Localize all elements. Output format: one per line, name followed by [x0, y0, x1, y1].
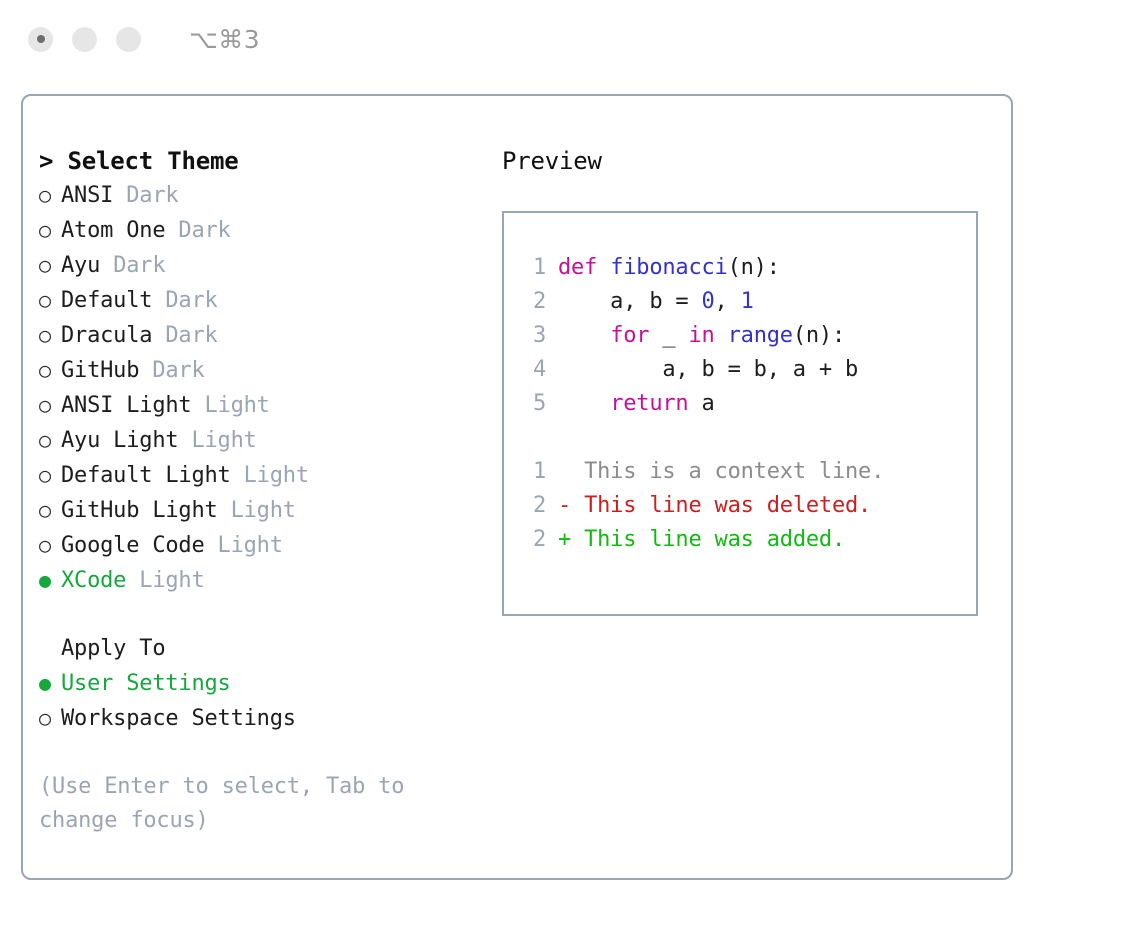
theme-name: ANSI — [61, 179, 113, 213]
line-number: 4 — [524, 353, 558, 387]
theme-name: XCode — [61, 564, 126, 598]
code-token-kw: for — [610, 323, 649, 348]
code-token-kw: in — [688, 323, 714, 348]
code-token-plain: a, b = b, a + b — [558, 357, 858, 382]
code-text: a, b = b, a + b — [558, 353, 858, 387]
line-number: 2 — [524, 285, 558, 319]
theme-name: Default Light — [61, 459, 231, 493]
theme-option-default-light[interactable]: ○Default Light Light — [39, 458, 469, 493]
code-text: a, b = 0, 1 — [558, 285, 754, 319]
keyboard-hint-text: (Use Enter to select, Tab to change focu… — [39, 770, 439, 838]
code-token-plain: _ — [649, 323, 688, 348]
window-close-dot[interactable] — [28, 27, 53, 52]
radio-unselected-icon: ○ — [39, 318, 61, 352]
select-theme-header: > Select Theme — [39, 144, 469, 178]
theme-name: Atom One — [61, 214, 165, 248]
diff-content: This line was added. — [584, 527, 845, 552]
code-line: 5 return a — [524, 387, 976, 421]
traffic-light-dots — [28, 27, 141, 52]
theme-option-dracula[interactable]: ○Dracula Dark — [39, 318, 469, 353]
theme-variant: Dark — [165, 319, 217, 353]
radio-selected-icon: ● — [39, 666, 61, 700]
code-token-fn: range — [728, 323, 793, 348]
active-indicator-dot — [37, 35, 45, 43]
theme-option-ayu-light[interactable]: ○Ayu Light Light — [39, 423, 469, 458]
theme-name: ANSI Light — [61, 389, 191, 423]
theme-option-ansi[interactable]: ○ANSI Dark — [39, 178, 469, 213]
theme-name: GitHub Light — [61, 494, 218, 528]
diff-marker — [558, 459, 584, 484]
theme-variant: Light — [244, 459, 309, 493]
code-line: 1def fibonacci(n): — [524, 251, 976, 285]
apply-option-user-settings[interactable]: ●User Settings — [39, 666, 469, 701]
code-text: def fibonacci(n): — [558, 251, 780, 285]
radio-unselected-icon: ○ — [39, 178, 61, 212]
code-token-plain: a, b = — [558, 289, 702, 314]
preview-title: Preview — [502, 144, 982, 178]
theme-variant: Dark — [152, 354, 204, 388]
theme-option-atom-one[interactable]: ○Atom One Dark — [39, 213, 469, 248]
code-token-kw: def — [558, 255, 610, 280]
code-token-plain — [558, 323, 610, 348]
theme-variant: Dark — [113, 249, 165, 283]
code-line: 2 a, b = 0, 1 — [524, 285, 976, 319]
theme-name: Ayu Light — [61, 424, 178, 458]
window-titlebar: ⌥⌘3 — [0, 0, 1140, 78]
theme-variant: Light — [191, 424, 256, 458]
keyboard-shortcut-label: ⌥⌘3 — [189, 25, 260, 54]
radio-unselected-icon: ○ — [39, 458, 61, 492]
radio-unselected-icon: ○ — [39, 353, 61, 387]
apply-option-label: User Settings — [61, 667, 231, 701]
code-sample: 1def fibonacci(n):2 a, b = 0, 13 for _ i… — [524, 251, 976, 421]
diff-line-add: 2+ This line was added. — [524, 523, 976, 557]
code-token-plain: a — [688, 391, 714, 416]
code-line: 4 a, b = b, a + b — [524, 353, 976, 387]
section-spacer — [39, 598, 469, 632]
radio-unselected-icon: ○ — [39, 388, 61, 422]
window-maximize-dot[interactable] — [116, 27, 141, 52]
theme-option-ansi-light[interactable]: ○ANSI Light Light — [39, 388, 469, 423]
code-token-plain: (n): — [793, 323, 845, 348]
line-number: 1 — [524, 251, 558, 285]
theme-name: Default — [61, 284, 152, 318]
theme-variant: Light — [218, 529, 283, 563]
radio-selected-icon: ● — [39, 563, 61, 597]
apply-option-label: Workspace Settings — [61, 702, 296, 736]
radio-unselected-icon: ○ — [39, 493, 61, 527]
code-text: for _ in range(n): — [558, 319, 845, 353]
diff-marker: - — [558, 493, 584, 518]
radio-unselected-icon: ○ — [39, 283, 61, 317]
theme-name: GitHub — [61, 354, 139, 388]
apply-option-workspace-settings[interactable]: ○Workspace Settings — [39, 701, 469, 736]
line-number: 3 — [524, 319, 558, 353]
radio-unselected-icon: ○ — [39, 701, 61, 735]
theme-option-github[interactable]: ○GitHub Dark — [39, 353, 469, 388]
code-token-plain: (n): — [728, 255, 780, 280]
theme-option-github-light[interactable]: ○GitHub Light Light — [39, 493, 469, 528]
apply-to-header: Apply To — [39, 632, 469, 666]
code-text: return a — [558, 387, 715, 421]
diff-content: This line was deleted. — [584, 493, 871, 518]
code-token-fn: fibonacci — [610, 255, 727, 280]
diff-text: + This line was added. — [558, 523, 845, 557]
apply-to-list: ●User Settings○Workspace Settings — [39, 666, 469, 736]
theme-option-default[interactable]: ○Default Dark — [39, 283, 469, 318]
radio-unselected-icon: ○ — [39, 423, 61, 457]
theme-option-google-code[interactable]: ○Google Code Light — [39, 528, 469, 563]
diff-line-ctx: 1 This is a context line. — [524, 455, 976, 489]
diff-line-del: 2- This line was deleted. — [524, 489, 976, 523]
radio-unselected-icon: ○ — [39, 528, 61, 562]
code-token-num: 0 — [702, 289, 715, 314]
theme-variant: Dark — [165, 284, 217, 318]
diff-text: This is a context line. — [558, 455, 884, 489]
line-number: 2 — [524, 523, 558, 557]
theme-variant: Dark — [178, 214, 230, 248]
line-number: 5 — [524, 387, 558, 421]
app-window: > Select Theme ○ANSI Dark○Atom One Dark○… — [21, 94, 1013, 880]
theme-name: Ayu — [61, 249, 100, 283]
line-number: 2 — [524, 489, 558, 523]
theme-variant: Light — [205, 389, 270, 423]
preview-box: 1def fibonacci(n):2 a, b = 0, 13 for _ i… — [502, 211, 978, 616]
theme-selector-panel: > Select Theme ○ANSI Dark○Atom One Dark○… — [39, 144, 469, 838]
theme-name: Dracula — [61, 319, 152, 353]
theme-option-ayu[interactable]: ○Ayu Dark — [39, 248, 469, 283]
diff-sample: 1 This is a context line.2- This line wa… — [524, 455, 976, 557]
code-token-plain — [558, 391, 610, 416]
code-diff-gap — [524, 421, 976, 455]
diff-marker: + — [558, 527, 584, 552]
window-minimize-dot[interactable] — [72, 27, 97, 52]
theme-name: Google Code — [61, 529, 205, 563]
theme-option-xcode[interactable]: ●XCode Light — [39, 563, 469, 598]
theme-variant: Light — [231, 494, 296, 528]
diff-content: This is a context line. — [584, 459, 884, 484]
code-token-plain — [715, 323, 728, 348]
radio-unselected-icon: ○ — [39, 213, 61, 247]
code-token-kw: return — [610, 391, 688, 416]
theme-list: ○ANSI Dark○Atom One Dark○Ayu Dark○Defaul… — [39, 178, 469, 598]
code-token-num: 1 — [741, 289, 754, 314]
radio-unselected-icon: ○ — [39, 248, 61, 282]
theme-variant: Light — [139, 564, 204, 598]
theme-variant: Dark — [126, 179, 178, 213]
code-line: 3 for _ in range(n): — [524, 319, 976, 353]
line-number: 1 — [524, 455, 558, 489]
code-token-plain: , — [715, 289, 741, 314]
diff-text: - This line was deleted. — [558, 489, 871, 523]
preview-panel: Preview 1def fibonacci(n):2 a, b = 0, 13… — [502, 144, 982, 616]
